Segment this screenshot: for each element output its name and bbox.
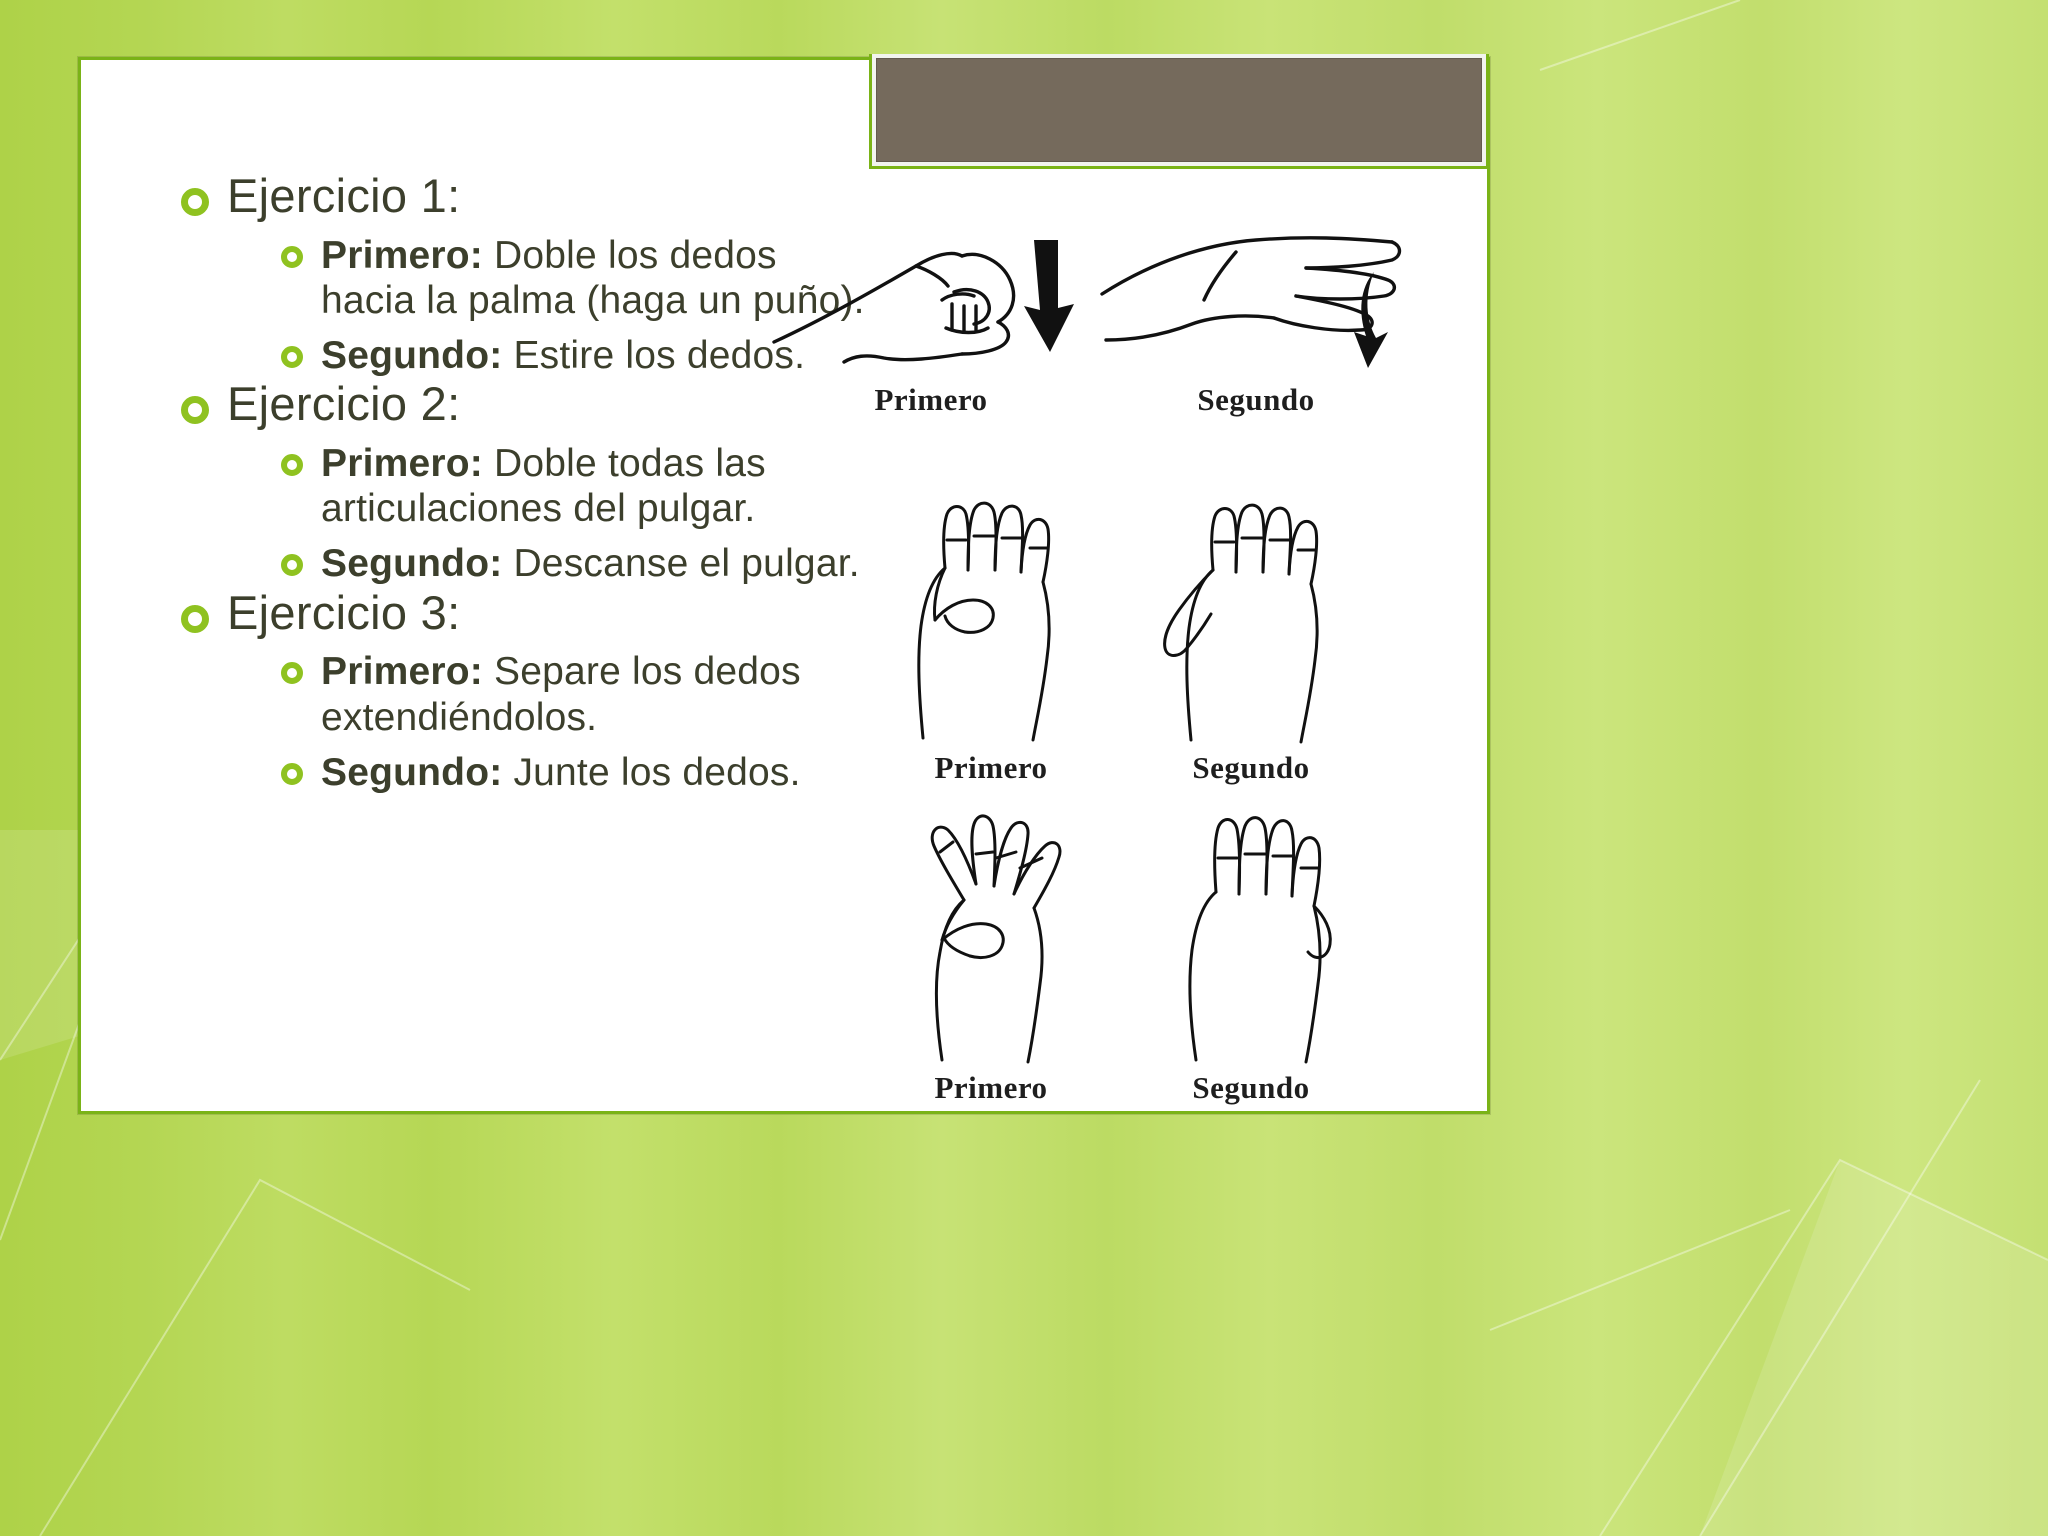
- exercise-3-steps: Primero: Separe los dedos extendiéndolos…: [281, 649, 871, 795]
- header-image-frame: [869, 54, 1489, 169]
- step-label: Primero:: [321, 442, 483, 485]
- bullet-ring-icon: [181, 587, 209, 633]
- exercise-2-steps: Primero: Doble todas las articulaciones …: [281, 441, 871, 587]
- caption-primero: Primero: [766, 382, 1096, 418]
- caption-segundo: Segundo: [1096, 382, 1416, 418]
- step-text: Junte los dedos.: [502, 751, 800, 794]
- hand-thumb-rest-drawing: [1121, 500, 1381, 750]
- exercise-1-title: Ejercicio 1:: [227, 170, 460, 223]
- bullet-ring-icon: [281, 649, 303, 684]
- bullet-ring-icon: [281, 441, 303, 476]
- exercise-3-step-1: Primero: Separe los dedos extendiéndolos…: [281, 649, 871, 739]
- hand-fist-drawing: [766, 222, 1096, 382]
- exercise-3-heading: Ejercicio 3:: [181, 587, 871, 640]
- caption-segundo: Segundo: [1121, 750, 1381, 786]
- exercise-1-captions: Primero Segundo: [751, 382, 1431, 418]
- bullet-ring-icon: [181, 378, 209, 424]
- exercise-2-title: Ejercicio 2:: [227, 378, 460, 431]
- header-image-placeholder: [876, 58, 1482, 162]
- step-label: Segundo:: [321, 334, 502, 377]
- step-label: Primero:: [321, 234, 483, 277]
- exercise-1-heading: Ejercicio 1:: [181, 170, 871, 223]
- hand-thumb-bent-drawing: [861, 500, 1121, 750]
- bullet-ring-icon: [181, 170, 209, 216]
- bullet-ring-icon: [281, 333, 303, 368]
- bullet-ring-icon: [281, 750, 303, 785]
- caption-primero: Primero: [861, 750, 1121, 786]
- caption-segundo: Segundo: [1126, 1070, 1376, 1106]
- caption-primero: Primero: [856, 1070, 1126, 1106]
- exercise-2-captions: Primero Segundo: [811, 750, 1431, 786]
- exercise-3-title: Ejercicio 3:: [227, 587, 460, 640]
- step-label: Primero:: [321, 650, 483, 693]
- exercise-1-illustration: Primero Segundo: [751, 222, 1431, 418]
- hand-fingers-spread-drawing: [856, 810, 1126, 1070]
- illustration-column: Primero Segundo: [871, 170, 1487, 795]
- step-text: Descanse el pulgar.: [502, 542, 859, 585]
- hand-fingers-together-drawing: [1126, 810, 1376, 1070]
- step-label: Segundo:: [321, 542, 502, 585]
- exercise-block-3: Ejercicio 3: Primero: Separe los dedos e…: [181, 587, 871, 795]
- exercise-2-step-1: Primero: Doble todas las articulaciones …: [281, 441, 871, 531]
- bullet-ring-icon: [281, 541, 303, 576]
- bullet-ring-icon: [281, 233, 303, 268]
- slide-body: Ejercicio 1: Primero: Doble los dedos ha…: [81, 170, 1487, 795]
- exercise-2-illustration: Primero Segundo: [811, 500, 1431, 786]
- hand-extended-drawing: [1096, 222, 1416, 382]
- slide-content-panel: Ejercicio 1: Primero: Doble los dedos ha…: [78, 57, 1490, 1114]
- exercise-3-step-2: Segundo: Junte los dedos.: [281, 750, 871, 795]
- step-label: Segundo:: [321, 751, 502, 794]
- exercise-2-step-2: Segundo: Descanse el pulgar.: [281, 541, 871, 586]
- exercise-3-captions: Primero Segundo: [801, 1070, 1431, 1106]
- exercise-3-illustration: Primero Segundo: [801, 810, 1431, 1106]
